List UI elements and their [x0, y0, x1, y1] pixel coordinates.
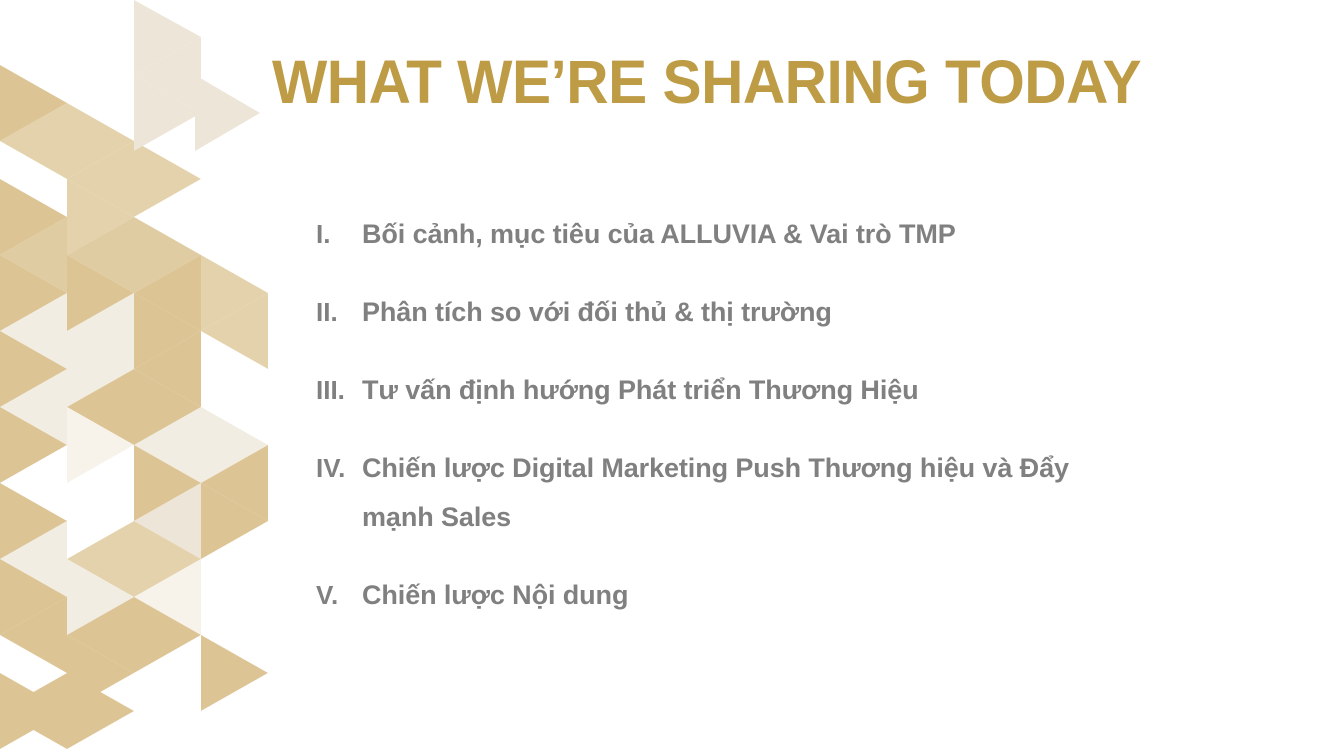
triangle-shape [67, 141, 134, 217]
triangle-shape [134, 483, 201, 559]
triangle-shape [67, 103, 134, 179]
triangle-shape [0, 217, 67, 293]
list-item-numeral: III. [316, 366, 362, 415]
list-item[interactable]: IV. Chiến lược Digital Marketing Push Th… [316, 444, 1306, 542]
list-item[interactable]: II. Phân tích so với đối thủ & thị trườn… [316, 288, 1306, 337]
triangle-shape [67, 635, 134, 711]
list-item-numeral: V. [316, 571, 362, 620]
triangle-shape [67, 369, 134, 445]
list-item-line-2: mạnh Sales [362, 493, 1306, 542]
triangle-shape [0, 597, 67, 673]
list-item-numeral: IV. [316, 444, 362, 493]
triangle-shape [0, 65, 67, 141]
triangle-shape [201, 673, 268, 749]
triangle-shape [134, 0, 201, 75]
triangle-shape [201, 407, 268, 483]
triangle-shape [134, 0, 201, 35]
triangle-shape [67, 217, 134, 293]
triangle-shape [201, 445, 268, 521]
list-item-label: Phân tích so với đối thủ & thị trường [362, 288, 1306, 337]
triangle-shape [134, 255, 201, 331]
list-item-line: Chiến lược Nội dung [362, 571, 1306, 620]
triangle-shape [0, 179, 67, 255]
triangle-shape [67, 445, 134, 521]
list-item-label: Chiến lược Nội dung [362, 571, 1306, 620]
triangle-shape [67, 483, 134, 559]
triangle-shape [0, 369, 67, 445]
list-item-label: Bối cảnh, mục tiêu của ALLUVIA & Vai trò… [362, 210, 1306, 259]
triangle-shape [0, 103, 67, 179]
triangle-shape [0, 673, 67, 711]
triangle-shape [134, 369, 201, 445]
triangle-shape [134, 179, 201, 255]
triangle-shape [134, 597, 201, 673]
triangle-shape [67, 597, 134, 673]
triangle-shape [134, 407, 201, 483]
list-item-label: Tư vấn định hướng Phát triển Thương Hiệu [362, 366, 1306, 415]
triangle-pattern-decoration [0, 0, 300, 750]
page-title: WHAT WE’RE SHARING TODAY [272, 52, 1141, 113]
triangle-shape [134, 141, 201, 217]
triangle-shape [0, 483, 67, 559]
triangle-shape [0, 445, 67, 521]
triangle-shape [0, 673, 67, 749]
triangle-shape [0, 521, 67, 597]
triangle-shape [67, 255, 134, 331]
triangle-shape [195, 75, 260, 151]
triangle-shape [134, 331, 201, 407]
triangle-shape [0, 179, 67, 217]
triangle-shape [67, 179, 134, 255]
slide-canvas: WHAT WE’RE SHARING TODAY I. Bối cảnh, mụ… [0, 0, 1333, 750]
agenda-list: I. Bối cảnh, mục tiêu của ALLUVIA & Vai … [316, 210, 1306, 649]
list-item-line: Chiến lược Digital Marketing Push Thương… [362, 444, 1306, 493]
triangle-shape [134, 635, 201, 711]
triangle-shape [134, 37, 201, 113]
list-item-line: Phân tích so với đối thủ & thị trường [362, 288, 1306, 337]
triangle-shape [134, 217, 201, 293]
triangle-shape [201, 635, 268, 711]
triangle-shape [0, 407, 67, 483]
triangle-shape [134, 559, 201, 635]
triangle-shape [67, 0, 134, 30]
triangle-shape [0, 179, 67, 255]
triangle-shape [134, 673, 201, 749]
triangle-shape [67, 559, 134, 635]
list-item-line: Bối cảnh, mục tiêu của ALLUVIA & Vai trò… [362, 210, 1306, 259]
triangle-shape [201, 293, 268, 369]
list-item[interactable]: I. Bối cảnh, mục tiêu của ALLUVIA & Vai … [316, 210, 1306, 259]
triangle-shape [0, 559, 67, 635]
list-item[interactable]: V. Chiến lược Nội dung [316, 571, 1306, 620]
triangle-shape [0, 293, 67, 369]
triangle-shape [134, 521, 201, 597]
triangle-shape [201, 483, 268, 559]
list-item-line: Tư vấn định hướng Phát triển Thương Hiệu [362, 366, 1306, 415]
triangle-shape [67, 673, 134, 749]
list-item-numeral: II. [316, 288, 362, 337]
triangle-shape [67, 407, 134, 483]
triangle-shape [67, 331, 134, 407]
triangle-shape [67, 293, 134, 369]
triangle-shape [0, 255, 67, 331]
triangle-shape [201, 255, 268, 331]
list-item-label: Chiến lược Digital Marketing Push Thương… [362, 444, 1306, 542]
triangle-shape [134, 75, 201, 151]
triangle-shape [67, 521, 134, 597]
triangle-shape [0, 331, 67, 407]
list-item[interactable]: III. Tư vấn định hướng Phát triển Thương… [316, 366, 1306, 415]
list-item-numeral: I. [316, 210, 362, 259]
triangle-shape [67, 673, 134, 749]
triangle-shape [134, 293, 201, 369]
triangle-shape [134, 445, 201, 521]
triangle-shape [0, 673, 67, 749]
